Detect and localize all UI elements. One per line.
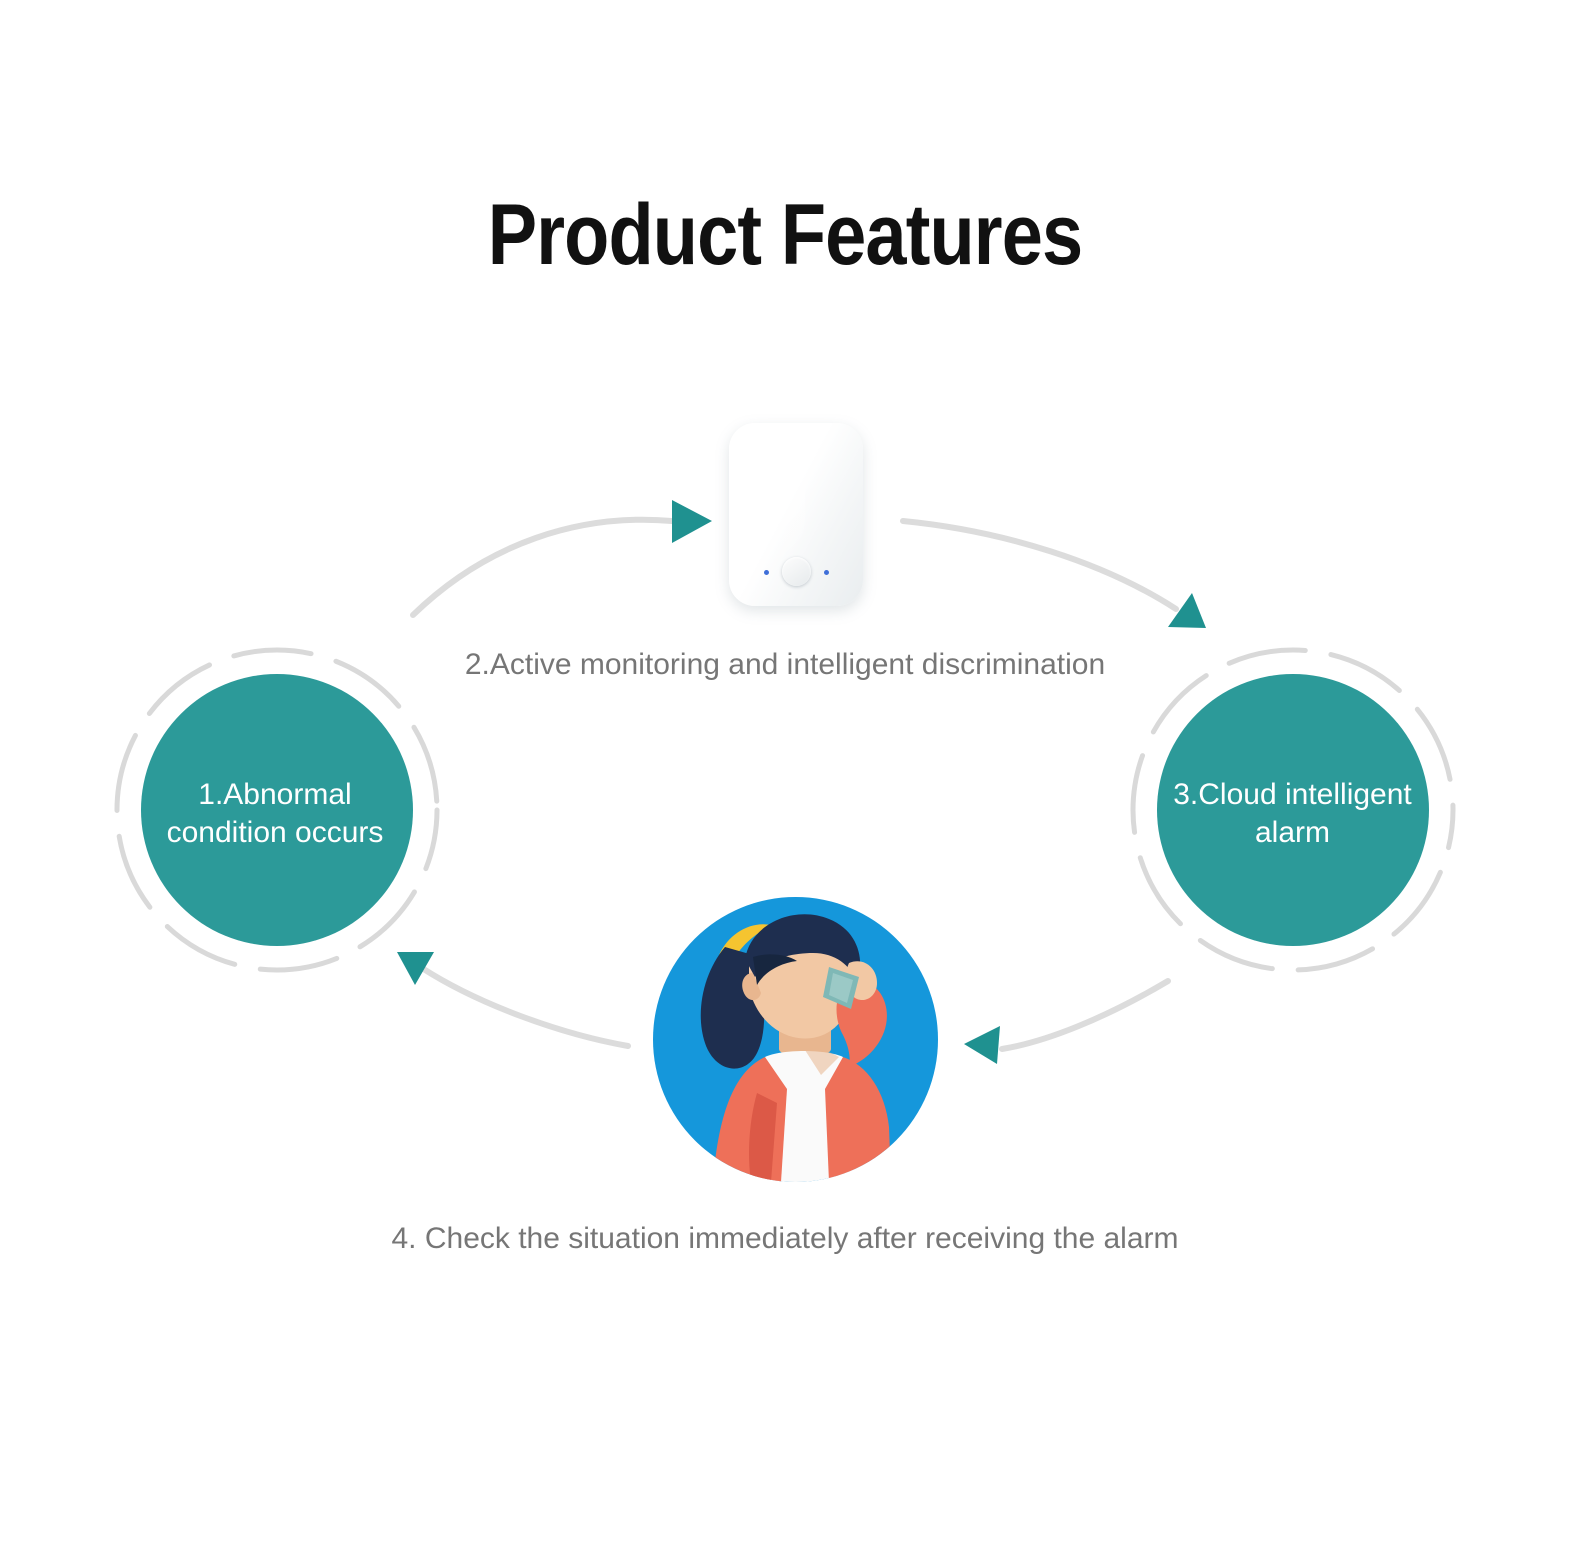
product-features-page: Product Features 1.Abnormal condition oc… [0, 0, 1570, 1556]
arc-step-2-to-3 [903, 521, 1176, 609]
smart-gateway-hub-icon [729, 423, 863, 606]
arc-step-4-to-1 [422, 968, 628, 1046]
device-power-button [782, 557, 811, 586]
arrowhead-step-3-to-4 [964, 1026, 1000, 1064]
device-led-left-icon [764, 570, 769, 575]
arrowhead-step-4-to-1 [397, 952, 434, 985]
arrowhead-step-1-to-2 [672, 500, 712, 543]
arc-step-3-to-4 [1002, 981, 1168, 1049]
cycle-diagram [0, 0, 1570, 1556]
arc-step-1-to-2 [413, 520, 672, 615]
device-led-right-icon [824, 570, 829, 575]
step-4-caption: 4. Check the situation immediately after… [0, 1222, 1570, 1256]
woman-on-phone-icon [653, 897, 938, 1182]
step-2-caption: 2.Active monitoring and intelligent disc… [0, 648, 1570, 682]
step-circle-3[interactable] [1157, 674, 1429, 946]
step-circle-1[interactable] [141, 674, 413, 946]
